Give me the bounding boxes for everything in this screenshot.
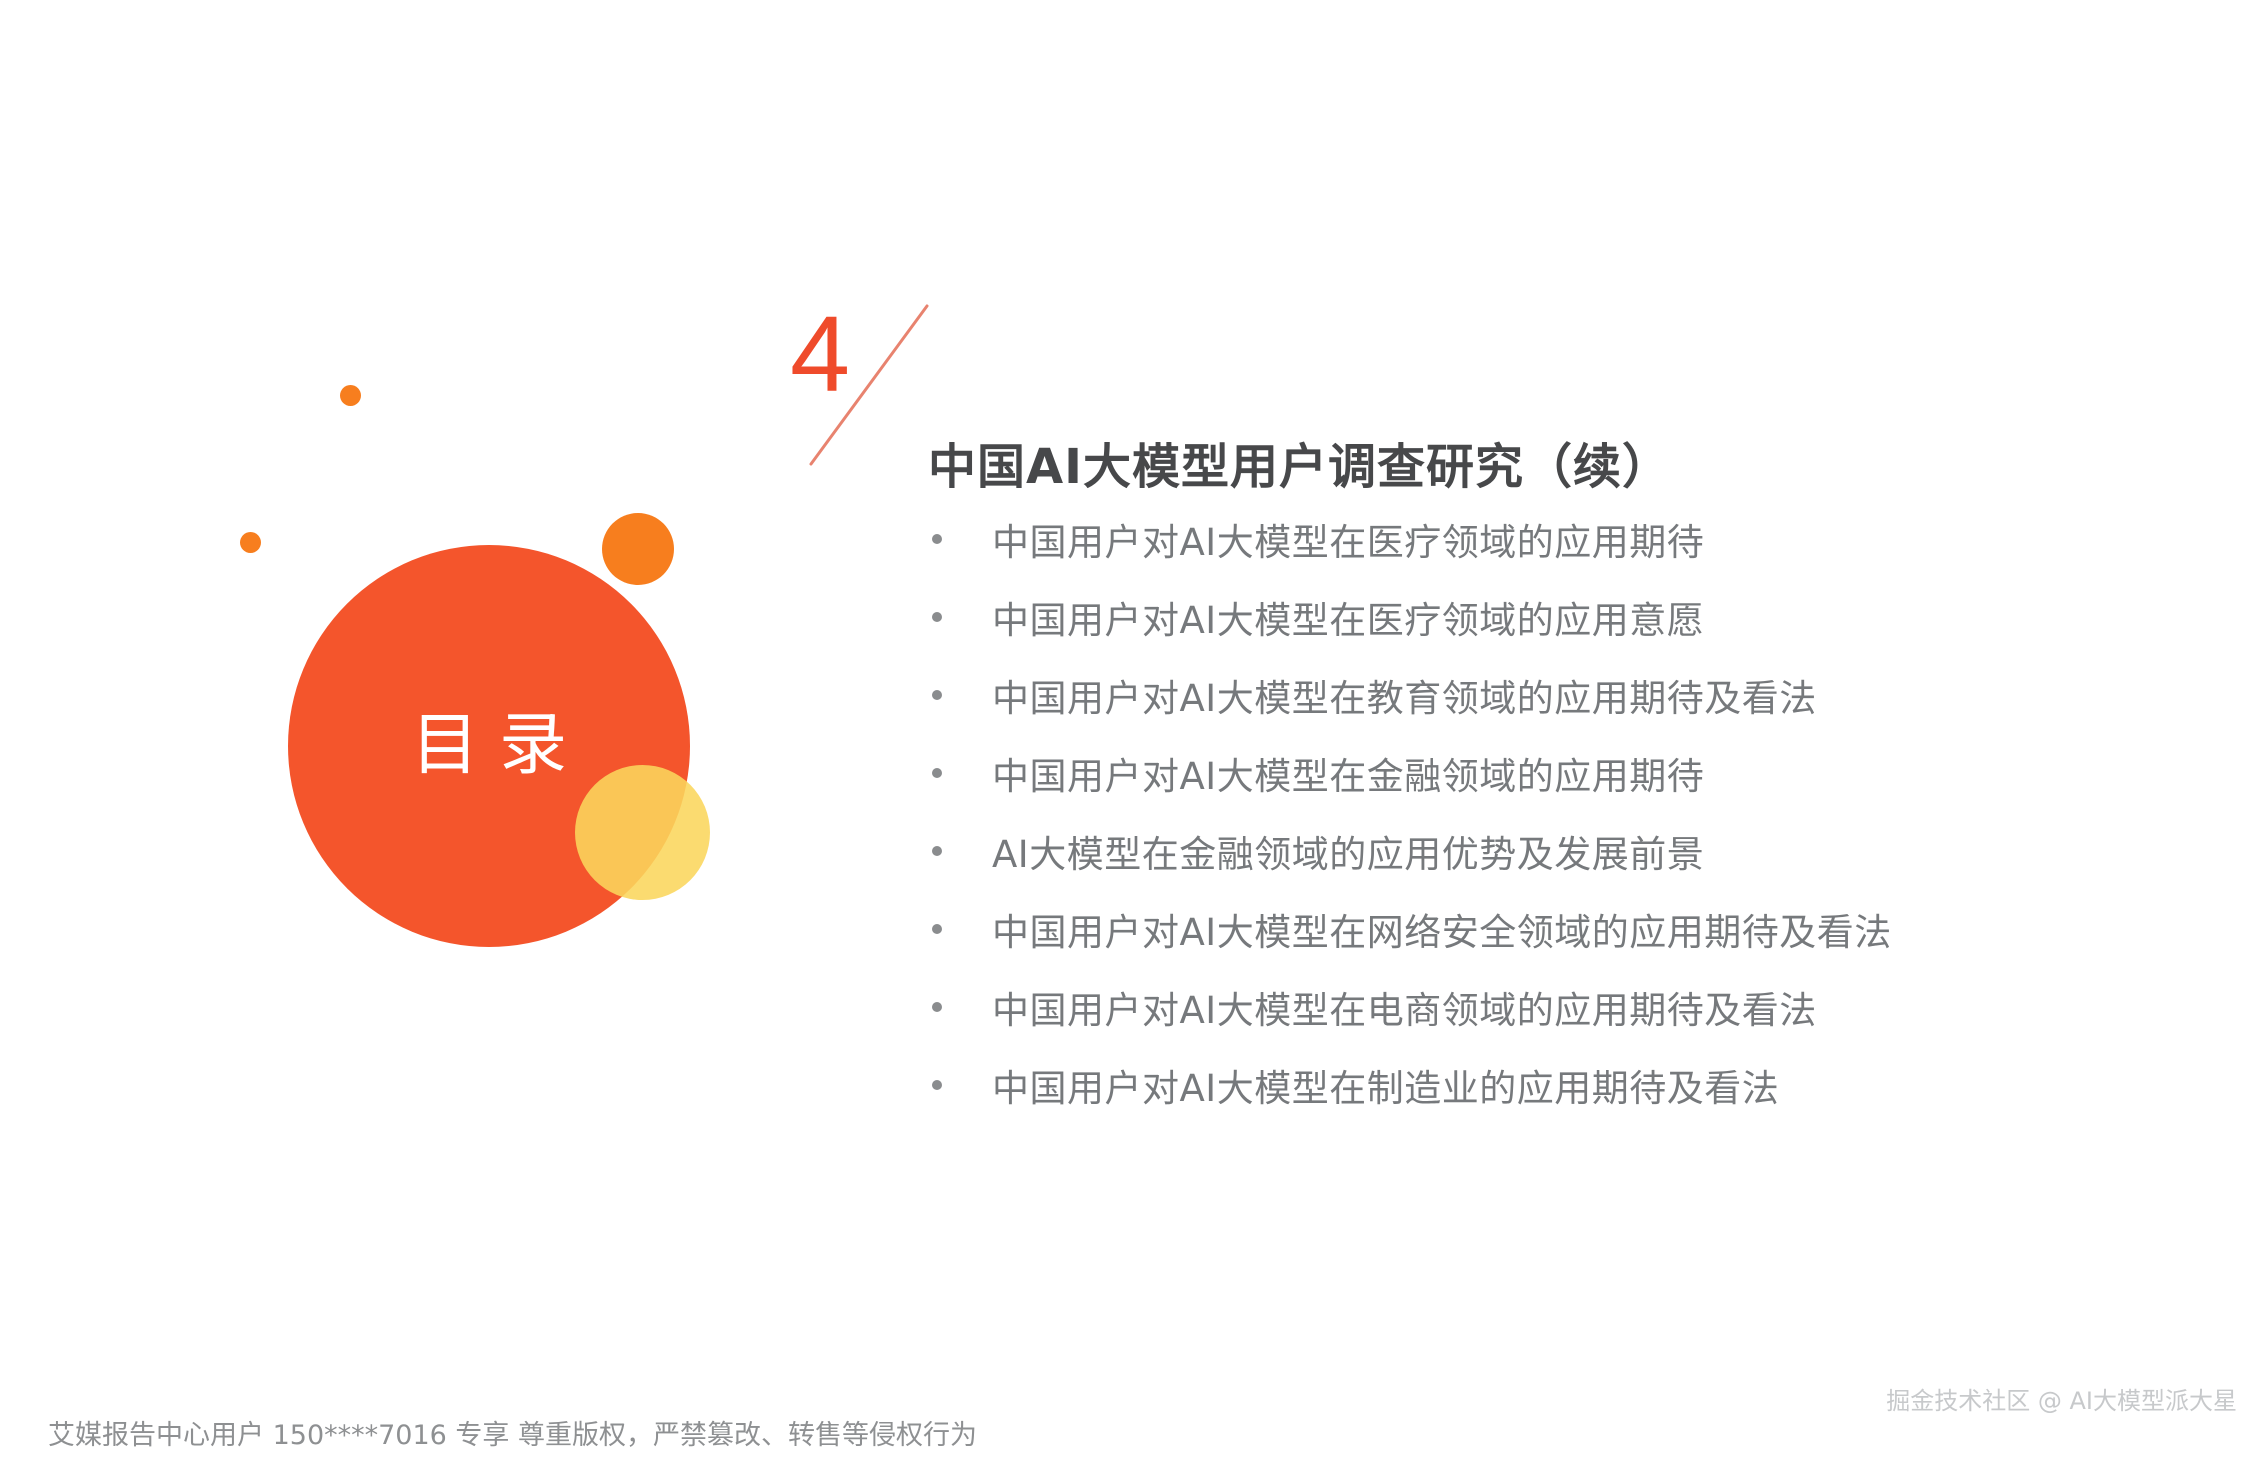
list-item[interactable]: AI大模型在金融领域的应用优势及发展前景 <box>920 812 1892 890</box>
watermark: 掘金技术社区 @ AI大模型派大星 <box>1886 1381 2237 1416</box>
list-item[interactable]: 中国用户对AI大模型在教育领域的应用期待及看法 <box>920 656 1892 734</box>
list-item[interactable]: 中国用户对AI大模型在网络安全领域的应用期待及看法 <box>920 890 1892 968</box>
footer-copyright-note: 艾媒报告中心用户 150****7016 专享 尊重版权，严禁篡改、转售等侵权行… <box>48 1413 977 1452</box>
bullet-icon <box>932 846 942 856</box>
bullet-icon <box>932 612 942 622</box>
list-item[interactable]: 中国用户对AI大模型在制造业的应用期待及看法 <box>920 1046 1892 1124</box>
list-item-label: AI大模型在金融领域的应用优势及发展前景 <box>992 824 1704 878</box>
list-item[interactable]: 中国用户对AI大模型在医疗领域的应用意愿 <box>920 578 1892 656</box>
accent-dot-top-icon <box>340 385 361 406</box>
bullet-icon <box>932 768 942 778</box>
bullet-icon <box>932 924 942 934</box>
list-item[interactable]: 中国用户对AI大模型在金融领域的应用期待 <box>920 734 1892 812</box>
accent-dot-left-icon <box>240 532 261 553</box>
list-item-label: 中国用户对AI大模型在金融领域的应用期待 <box>992 746 1704 800</box>
bullet-icon <box>932 1002 942 1012</box>
list-item-label: 中国用户对AI大模型在医疗领域的应用意愿 <box>992 590 1704 644</box>
decorative-circle-cluster: 目录 <box>0 0 780 960</box>
list-item-label: 中国用户对AI大模型在制造业的应用期待及看法 <box>992 1058 1779 1112</box>
list-item-label: 中国用户对AI大模型在医疗领域的应用期待 <box>992 512 1704 566</box>
table-of-contents-list: 中国用户对AI大模型在医疗领域的应用期待 中国用户对AI大模型在医疗领域的应用意… <box>920 500 1892 1124</box>
accent-circle-yellow-icon <box>575 765 710 900</box>
bullet-icon <box>932 534 942 544</box>
list-item[interactable]: 中国用户对AI大模型在医疗领域的应用期待 <box>920 500 1892 578</box>
list-item-label: 中国用户对AI大模型在教育领域的应用期待及看法 <box>992 668 1817 722</box>
section-number: 4 <box>790 300 850 408</box>
page-title: 中国AI大模型用户调查研究（续） <box>928 427 1671 497</box>
bullet-icon <box>932 1080 942 1090</box>
accent-circle-orange-icon <box>602 513 674 585</box>
list-item-label: 中国用户对AI大模型在网络安全领域的应用期待及看法 <box>992 902 1892 956</box>
slide-canvas: 目录 4 中国AI大模型用户调查研究（续） 中国用户对AI大模型在医疗领域的应用… <box>0 0 2267 1474</box>
bullet-icon <box>932 690 942 700</box>
list-item-label: 中国用户对AI大模型在电商领域的应用期待及看法 <box>992 980 1817 1034</box>
list-item[interactable]: 中国用户对AI大模型在电商领域的应用期待及看法 <box>920 968 1892 1046</box>
table-of-contents-badge-label: 目录 <box>391 712 587 780</box>
